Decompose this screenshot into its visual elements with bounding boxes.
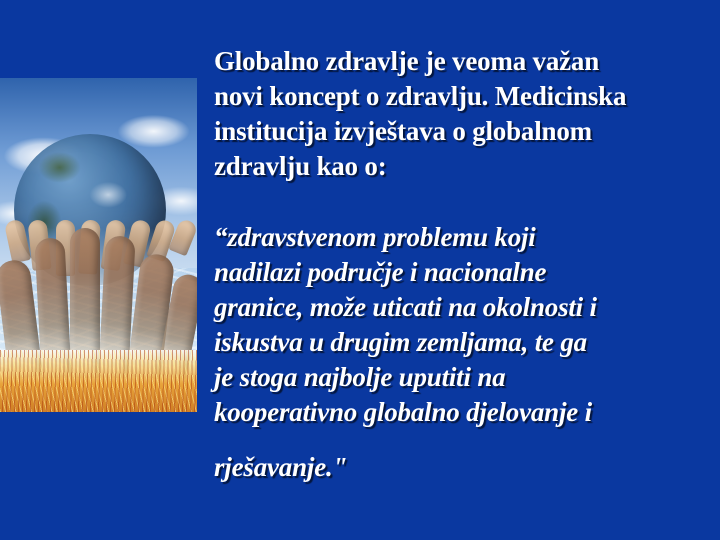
intro-paragraph-line: novi koncept o zdravlju. Medicinska xyxy=(214,79,714,114)
quote-paragraph-line: “zdravstvenom problemu koji xyxy=(214,220,714,255)
intro-paragraph-line: Globalno zdravlje je veoma važan xyxy=(214,44,714,79)
quote-paragraph-line: granice, može uticati na okolnosti i xyxy=(214,290,714,325)
intro-paragraph-line: institucija izvještava o globalnom xyxy=(214,114,714,149)
slide-text-body: Globalno zdravlje je veoma važan novi ko… xyxy=(214,44,714,485)
golden-field-layer xyxy=(0,350,197,412)
intro-paragraph-line: zdravlju kao o: xyxy=(214,149,714,184)
quote-paragraph-line: kooperativno globalno djelovanje i xyxy=(214,395,714,430)
quote-paragraph-line: iskustva u drugim zemljama, te ga xyxy=(214,325,714,360)
intro-paragraph: Globalno zdravlje je veoma važan novi ko… xyxy=(214,44,714,184)
presentation-slide: Globalno zdravlje je veoma važan novi ko… xyxy=(0,0,720,540)
globe-held-by-hands-photo xyxy=(0,78,197,412)
quote-paragraph-line: nadilazi područje i nacionalne xyxy=(214,255,714,290)
quote-paragraph-line: je stoga najbolje uputiti na xyxy=(214,360,714,395)
quote-paragraph: “zdravstvenom problemu koji nadilazi pod… xyxy=(214,220,714,485)
quote-paragraph-line: rješavanje." xyxy=(214,450,714,485)
